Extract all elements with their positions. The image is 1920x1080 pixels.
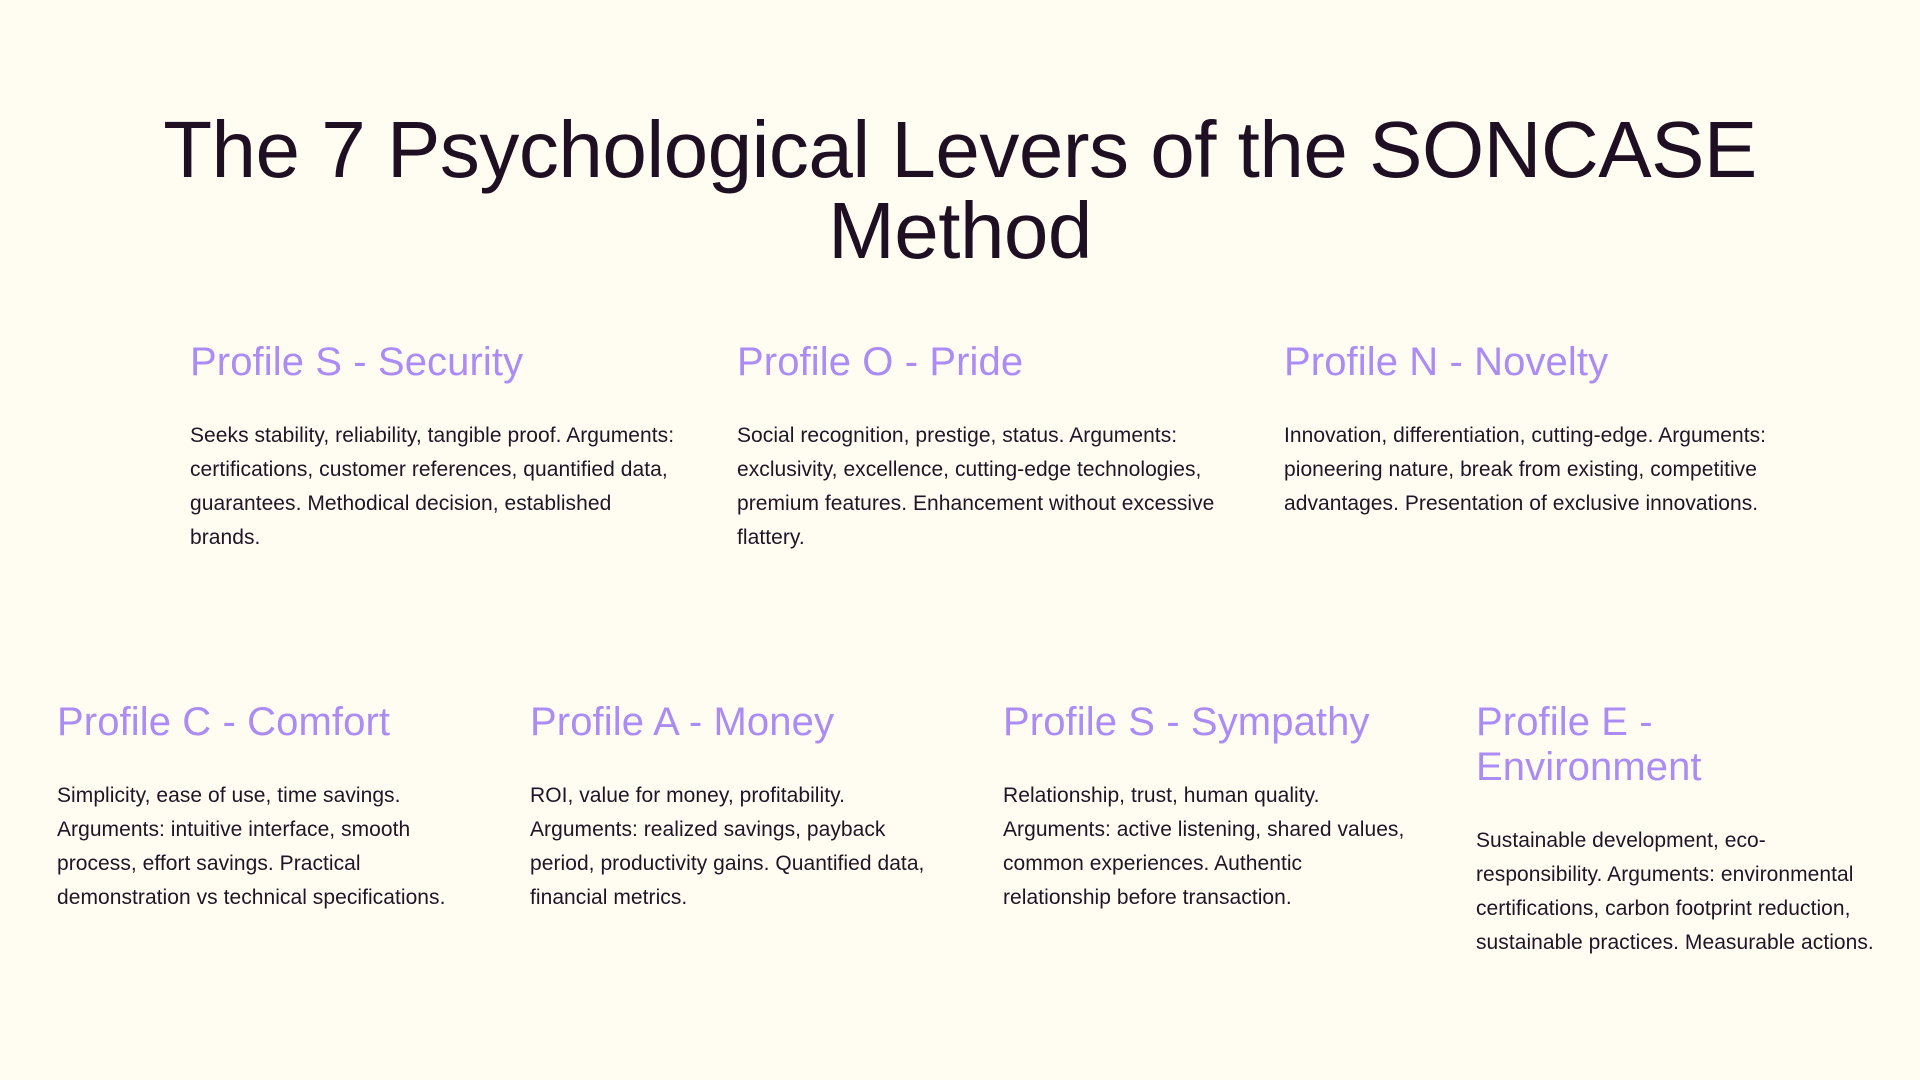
profile-card-title: Profile S - Security xyxy=(190,340,677,385)
profile-row-bottom: Profile C - Comfort Simplicity, ease of … xyxy=(57,700,1887,960)
slide-page: The 7 Psychological Levers of the SONCAS… xyxy=(0,0,1920,1080)
profile-card-title: Profile E - Environment xyxy=(1476,700,1887,790)
profile-card-environment: Profile E - Environment Sustainable deve… xyxy=(1476,700,1887,960)
profile-card-sympathy: Profile S - Sympathy Relationship, trust… xyxy=(1003,700,1414,960)
profile-card-description: Simplicity, ease of use, time savings. A… xyxy=(57,779,468,915)
profile-card-comfort: Profile C - Comfort Simplicity, ease of … xyxy=(57,700,468,960)
profile-card-money: Profile A - Money ROI, value for money, … xyxy=(530,700,941,960)
profile-card-title: Profile C - Comfort xyxy=(57,700,468,745)
profile-card-description: ROI, value for money, profitability. Arg… xyxy=(530,779,941,915)
profile-card-description: Innovation, differentiation, cutting-edg… xyxy=(1284,419,1771,521)
profile-card-title: Profile A - Money xyxy=(530,700,941,745)
profile-card-description: Seeks stability, reliability, tangible p… xyxy=(190,419,677,555)
profile-card-description: Social recognition, prestige, status. Ar… xyxy=(737,419,1224,555)
profile-card-title: Profile N - Novelty xyxy=(1284,340,1771,385)
profile-card-pride: Profile O - Pride Social recognition, pr… xyxy=(737,340,1224,555)
profile-card-title: Profile O - Pride xyxy=(737,340,1224,385)
profile-card-description: Relationship, trust, human quality. Argu… xyxy=(1003,779,1414,915)
profile-row-top: Profile S - Security Seeks stability, re… xyxy=(190,340,1800,555)
page-title: The 7 Psychological Levers of the SONCAS… xyxy=(50,109,1870,272)
profile-card-novelty: Profile N - Novelty Innovation, differen… xyxy=(1284,340,1771,555)
profile-card-description: Sustainable development, eco-responsibil… xyxy=(1476,824,1887,960)
profile-card-security: Profile S - Security Seeks stability, re… xyxy=(190,340,677,555)
profile-card-title: Profile S - Sympathy xyxy=(1003,700,1414,745)
